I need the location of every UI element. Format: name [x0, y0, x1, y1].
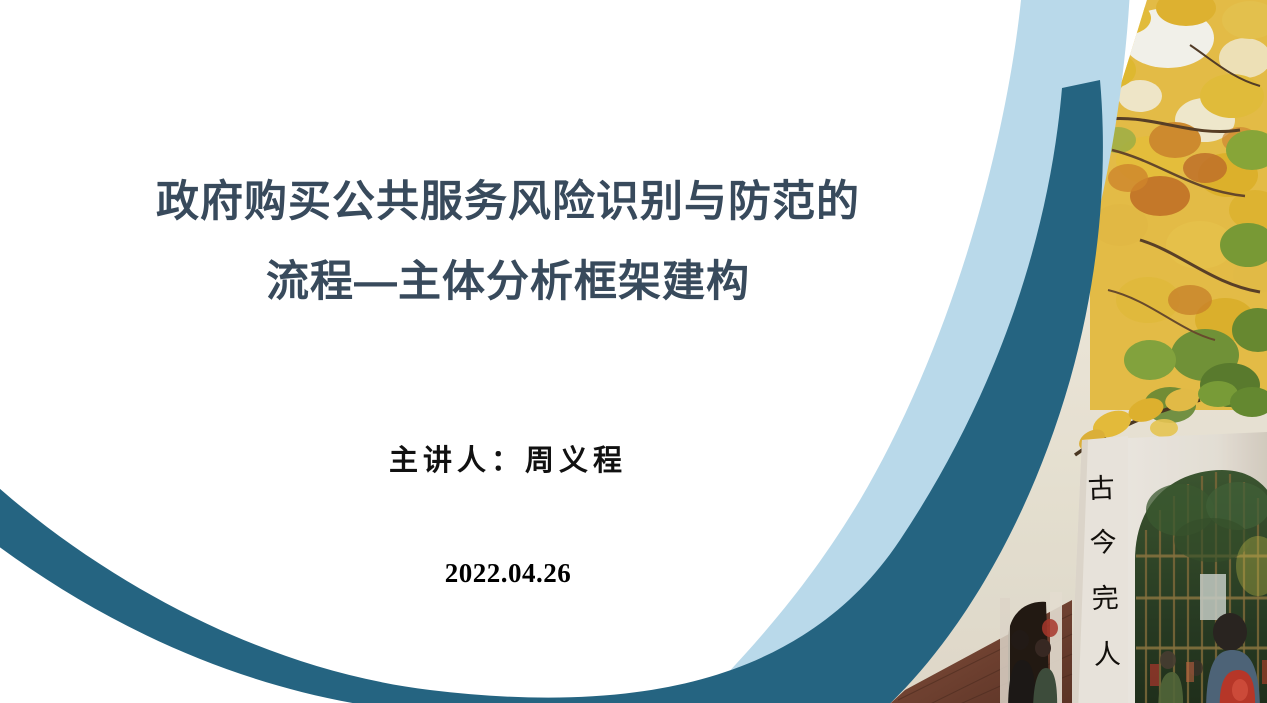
slide-title-line-2: 流程—主体分析框架建构 — [8, 261, 1008, 304]
title-slide: 古 今 完 人 — [0, 0, 1267, 703]
presentation-date: 2022.04.26 — [8, 558, 1008, 589]
presenter-name: 主讲人：周义程 — [8, 437, 1008, 479]
slide-title-line-1: 政府购买公共服务风险识别与防范的 — [8, 181, 1008, 224]
slide-text-layer: 政府购买公共服务风险识别与防范的 流程—主体分析框架建构 主讲人：周义程 202… — [0, 0, 1267, 703]
